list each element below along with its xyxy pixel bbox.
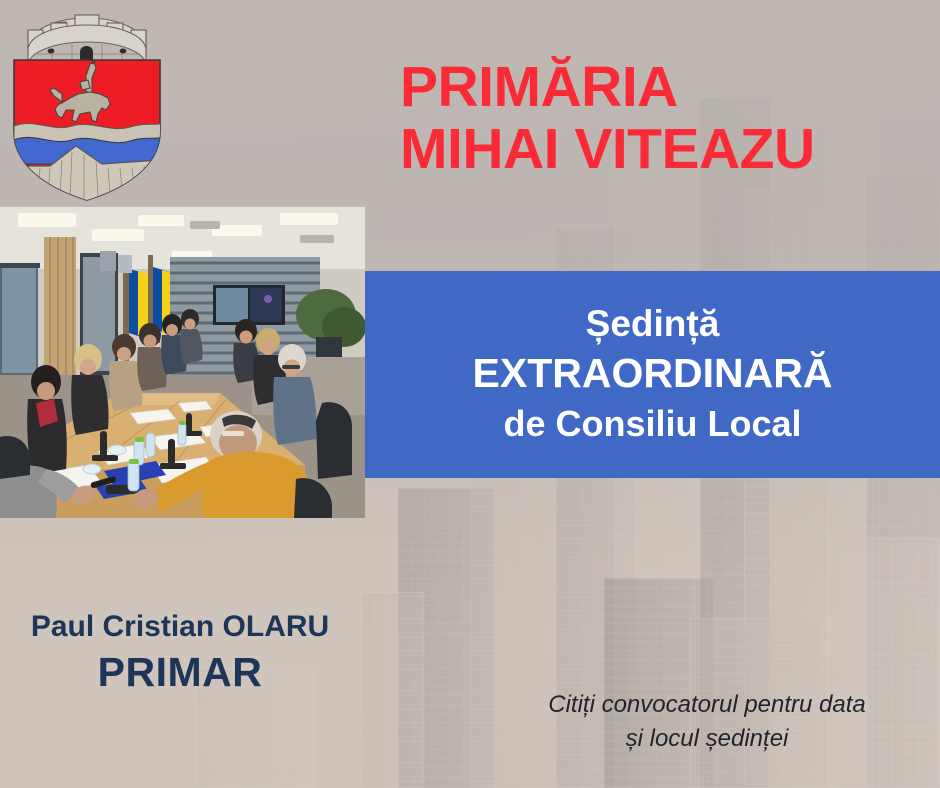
announcement-poster: PRIMĂRIA MIHAI VITEAZU: [0, 0, 940, 788]
mayor-name: Paul Cristian OLARU: [10, 608, 350, 646]
banner-line-2: EXTRAORDINARĂ: [473, 347, 833, 399]
meeting-room-illustration: [0, 207, 365, 518]
title-line-2: MIHAI VITEAZU: [400, 118, 925, 180]
mayor-role: PRIMAR: [10, 646, 350, 698]
footnote-line-2: și locul ședinței: [492, 722, 922, 756]
coat-of-arms-icon: [4, 4, 170, 204]
council-meeting-photo: [0, 207, 365, 518]
footnote-text: Citiți convocatorul pentru data și locul…: [492, 688, 922, 756]
title-line-1: PRIMĂRIA: [400, 56, 925, 118]
banner-line-1: Ședință: [586, 300, 720, 347]
meeting-type-banner: Ședință EXTRAORDINARĂ de Consiliu Local: [365, 271, 940, 478]
footnote-line-1: Citiți convocatorul pentru data: [492, 688, 922, 722]
mayor-block: Paul Cristian OLARU PRIMAR: [10, 608, 350, 698]
poster-title: PRIMĂRIA MIHAI VITEAZU: [400, 56, 925, 180]
banner-line-3: de Consiliu Local: [503, 399, 801, 449]
